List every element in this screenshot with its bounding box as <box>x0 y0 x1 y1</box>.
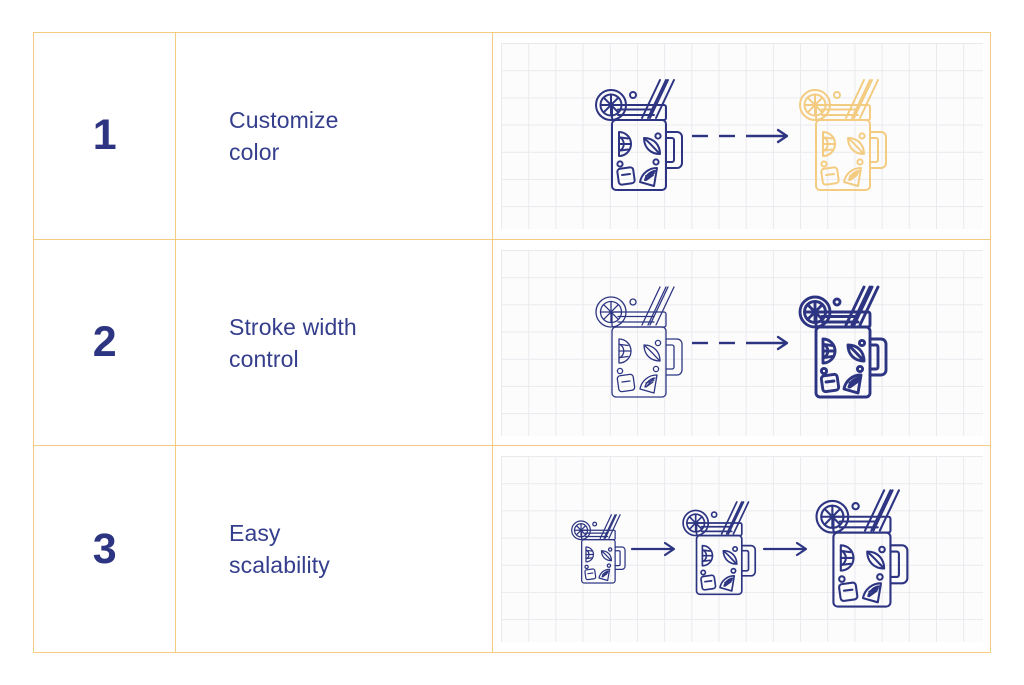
step-label: Easy scalability <box>229 517 330 581</box>
demo-sequence <box>501 250 983 436</box>
solid-arrow <box>630 539 678 559</box>
dashed-arrow-icon <box>690 126 794 146</box>
grid-canvas <box>501 43 983 229</box>
step-label: Customize color <box>229 104 339 168</box>
step-label-cell: Stroke width control <box>176 240 493 446</box>
step-label-cell: Easy scalability <box>176 446 493 652</box>
step-number-cell: 2 <box>34 240 176 446</box>
dashed-arrow <box>690 126 794 146</box>
step-number: 3 <box>93 528 116 571</box>
feature-row: 3Easy scalability <box>34 446 990 652</box>
grid-canvas <box>501 456 983 642</box>
solid-arrow <box>762 539 810 559</box>
dashed-arrow-icon <box>690 333 794 353</box>
icon-variant-2 <box>794 281 894 405</box>
step-label: Stroke width control <box>229 311 357 375</box>
step-number: 1 <box>93 114 116 157</box>
lemonade-mug-icon <box>678 497 762 601</box>
lemonade-mug-icon <box>590 74 690 198</box>
icon-variant-3 <box>810 484 916 615</box>
lemonade-mug-icon <box>794 281 894 405</box>
feature-table: 1Customize color <box>33 32 991 653</box>
lemonade-mug-icon <box>568 511 630 588</box>
step-number: 2 <box>93 321 116 364</box>
demo-sequence <box>501 456 983 642</box>
demo-sequence <box>501 43 983 229</box>
lemonade-mug-icon <box>810 484 916 615</box>
icon-variant-2 <box>794 74 894 198</box>
icon-variant-1 <box>590 74 690 198</box>
demonstration-cell <box>493 33 990 239</box>
step-number-cell: 3 <box>34 446 176 652</box>
step-number-cell: 1 <box>34 33 176 239</box>
feature-row: 1Customize color <box>34 33 990 240</box>
icon-variant-2 <box>678 497 762 601</box>
solid-arrow-icon <box>762 539 810 559</box>
page-root: 1Customize color <box>0 0 1024 685</box>
icon-variant-1 <box>590 281 690 405</box>
feature-row: 2Stroke width control <box>34 240 990 447</box>
icon-variant-1 <box>568 511 630 588</box>
step-label-cell: Customize color <box>176 33 493 239</box>
grid-canvas <box>501 250 983 436</box>
lemonade-mug-icon <box>794 74 894 198</box>
solid-arrow-icon <box>630 539 678 559</box>
dashed-arrow <box>690 333 794 353</box>
demonstration-cell <box>493 240 990 446</box>
lemonade-mug-icon <box>590 281 690 405</box>
demonstration-cell <box>493 446 990 652</box>
